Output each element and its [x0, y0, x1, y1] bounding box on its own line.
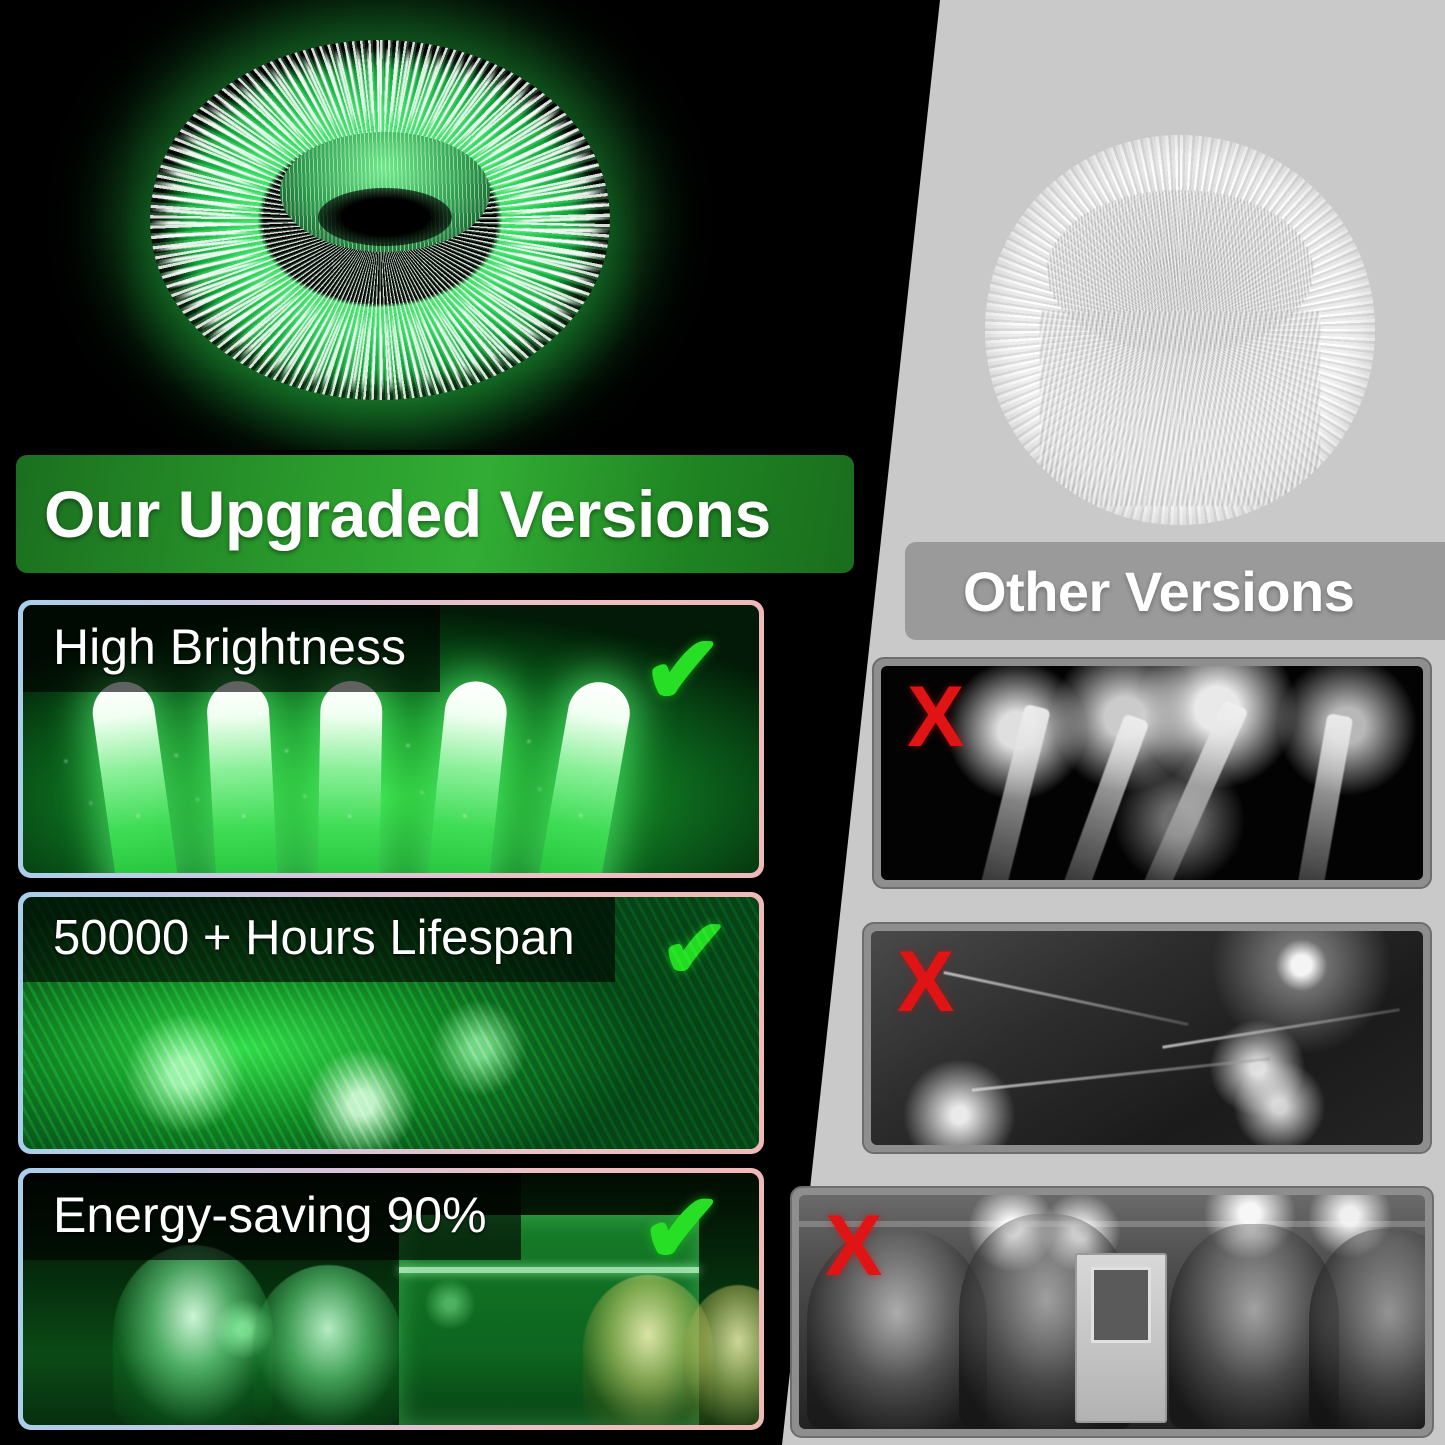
light-wire: [943, 971, 1188, 1026]
cross-icon: X: [825, 1203, 882, 1289]
dull-bulb: [1139, 700, 1248, 880]
check-icon: ✔: [643, 623, 723, 719]
dull-bulb: [1295, 713, 1354, 880]
feature-card-photo: High Brightness ✔: [23, 605, 759, 873]
other-card-dim-string: X: [862, 922, 1432, 1154]
led-bulb: [206, 680, 279, 873]
feature-card-lifespan: 50000 + Hours Lifespan ✔: [18, 892, 764, 1154]
led-bulb: [426, 678, 510, 873]
cross-icon: X: [907, 674, 964, 760]
other-card-dull-bulbs: X: [872, 657, 1432, 889]
other-card-photo: X: [871, 931, 1423, 1145]
hero-image-upgraded: [0, 0, 770, 450]
light-wire: [972, 1057, 1271, 1091]
dull-bulb: [977, 704, 1051, 880]
feature-label-high-brightness: High Brightness: [23, 605, 440, 692]
led-bulb: [537, 677, 635, 873]
feature-card-photo: 50000 + Hours Lifespan ✔: [23, 897, 759, 1149]
hero-image-other: [985, 135, 1375, 525]
cross-icon: X: [897, 939, 954, 1025]
green-light-coil-photo: [150, 10, 610, 440]
house-door: [1075, 1253, 1167, 1423]
banner-other-label: Other Versions: [963, 559, 1354, 624]
coil-bulb-tips: [150, 40, 610, 400]
white-light-bundle-photo: [985, 135, 1375, 525]
feature-card-photo: Energy-saving 90% ✔: [23, 1173, 759, 1425]
lit-tree: [113, 1245, 273, 1425]
gray-tree: [1309, 1229, 1425, 1429]
banner-upgraded-label: Our Upgraded Versions: [44, 476, 771, 552]
check-icon: ✔: [641, 1179, 723, 1277]
dull-bulb: [1058, 713, 1149, 880]
feature-label-lifespan: 50000 + Hours Lifespan: [23, 897, 615, 982]
lit-tree: [253, 1265, 403, 1425]
infographic-canvas: Our Upgraded Versions Other Versions Hig…: [0, 0, 1445, 1445]
banner-other-versions: Other Versions: [905, 542, 1445, 640]
banner-upgraded-versions: Our Upgraded Versions: [16, 455, 854, 573]
light-wire: [1162, 1008, 1400, 1049]
led-bulb: [89, 678, 180, 873]
other-card-house-scene: X: [790, 1186, 1434, 1438]
check-icon: ✔: [660, 909, 729, 991]
led-bulb: [317, 680, 383, 873]
feature-label-energy-saving: Energy-saving 90%: [23, 1173, 521, 1260]
feature-card-energy-saving: Energy-saving 90% ✔: [18, 1168, 764, 1430]
other-card-photo: X: [799, 1195, 1425, 1429]
other-card-photo: X: [881, 666, 1423, 880]
feature-card-high-brightness: High Brightness ✔: [18, 600, 764, 878]
